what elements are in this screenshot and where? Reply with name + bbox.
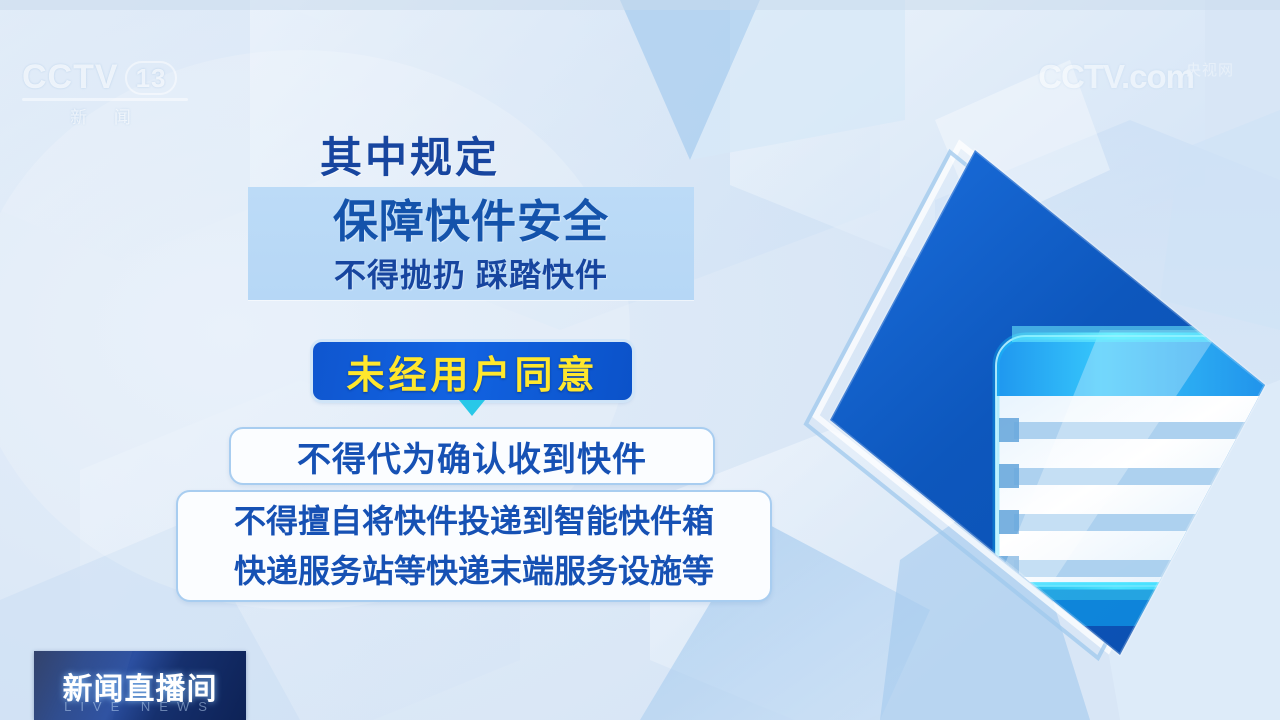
rule-no-proxy-confirm: 不得代为确认收到快件 xyxy=(229,427,715,485)
watermark-text: CCTV.com xyxy=(1038,58,1194,96)
infographic-content: 其中规定 保障快件安全 不得抛扔 踩踏快件 未经用户同意 不得代为确认收到快件 … xyxy=(0,0,820,720)
watermark-cn-text: 央视网 xyxy=(1186,59,1234,80)
rule-line: 不得代为确认收到快件 xyxy=(297,432,647,481)
condition-chip: 未经用户同意 xyxy=(313,342,632,400)
live-program-bug: 新闻直播间 LIVE NEWS xyxy=(34,651,246,720)
highlight-headline: 保障快件安全 xyxy=(248,187,694,254)
live-program-subtitle: LIVE NEWS xyxy=(34,699,246,714)
highlight-panel: 保障快件安全 不得抛扔 踩踏快件 xyxy=(248,187,694,300)
rule-line: 快递服务站等快递末端服务设施等 xyxy=(234,546,714,596)
broadcast-screen: CCTV 13 新 闻 CCTV.com 央视网 xyxy=(0,0,1280,720)
caret-down-icon xyxy=(459,400,485,416)
cctv-com-watermark-icon: CCTV.com 央视网 xyxy=(1038,58,1246,96)
rule-no-unauthorized-locker: 不得擅自将快件投递到智能快件箱 快递服务站等快递末端服务设施等 xyxy=(176,490,772,602)
rule-line: 不得擅自将快件投递到智能快件箱 xyxy=(234,496,714,546)
document-diamond-graphic xyxy=(800,130,1280,690)
highlight-subline: 不得抛扔 踩踏快件 xyxy=(248,254,694,296)
condition-chip-label: 未经用户同意 xyxy=(346,344,598,399)
document-icon xyxy=(800,130,1280,690)
lead-text: 其中规定 xyxy=(0,124,820,185)
